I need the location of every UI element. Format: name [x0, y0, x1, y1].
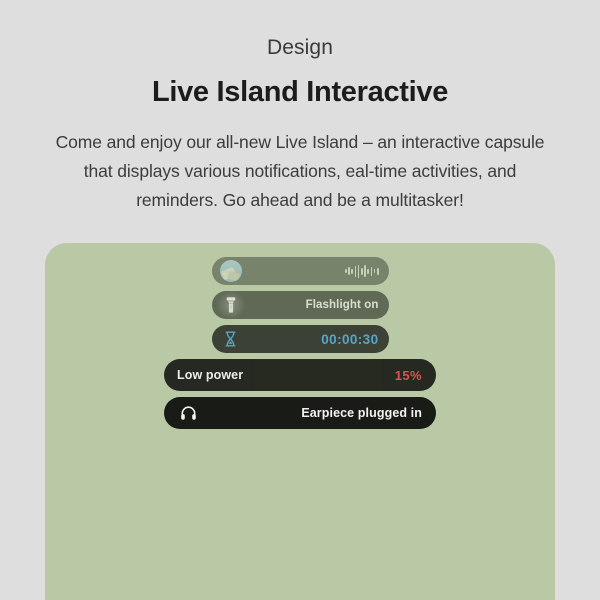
eyebrow-label: Design [0, 34, 600, 62]
capsule-low-power-label: Low power [177, 368, 243, 382]
capsule-low-power[interactable]: Low power 15% [164, 359, 436, 391]
page-title: Live Island Interactive [0, 74, 600, 110]
battery-percentage-value: 15% [395, 368, 422, 383]
capsule-music[interactable] [212, 257, 389, 285]
notification-capsule-stack: Flashlight on 00:00:30 Low power [45, 243, 555, 435]
header-block: Design Live Island Interactive Come and … [0, 0, 600, 215]
capsule-earpiece[interactable]: Earpiece plugged in [164, 397, 436, 429]
album-art-icon [220, 260, 242, 282]
capsule-timer[interactable]: 00:00:30 [212, 325, 389, 353]
capsule-earpiece-label: Earpiece plugged in [301, 406, 422, 420]
audio-waveform-icon [345, 264, 378, 278]
capsule-flashlight-label: Flashlight on [306, 299, 379, 311]
description-paragraph: Come and enjoy our all-new Live Island –… [50, 128, 550, 215]
capsule-flashlight[interactable]: Flashlight on [212, 291, 389, 319]
capsule-timer-value: 00:00:30 [321, 332, 378, 347]
flashlight-icon [220, 294, 242, 316]
showcase-card: Flashlight on 00:00:30 Low power [45, 243, 555, 600]
hourglass-icon [220, 328, 242, 350]
headphones-icon [177, 402, 199, 424]
